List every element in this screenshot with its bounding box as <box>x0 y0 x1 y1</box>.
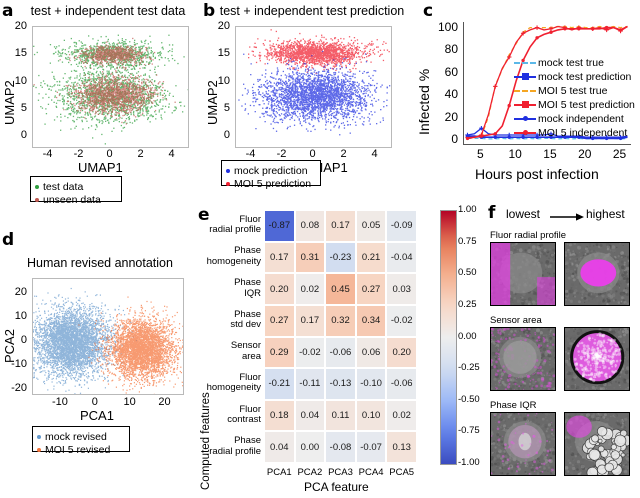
legend-item[interactable]: mock independent <box>514 112 635 126</box>
panel-d-legend: mock revisedMOI 5 revised <box>32 426 130 452</box>
heatmap-col-label: PCA2 <box>294 467 326 478</box>
tick-label: 4 <box>361 148 389 160</box>
heatmap-cell: 0.17 <box>264 242 295 274</box>
heatmap-cell: -0.04 <box>386 242 417 274</box>
panel-f-image-highest <box>564 412 630 476</box>
tick-label: 2 <box>127 148 155 160</box>
heatmap-cell: 0.11 <box>325 400 356 432</box>
legend-label: MOI 5 independent <box>538 127 627 139</box>
legend-item[interactable]: mock test prediction <box>514 70 635 84</box>
tick-label: 15 <box>203 47 233 59</box>
tick-label: 20 <box>424 110 458 124</box>
colorbar-tick-label: -1.00 <box>458 457 480 468</box>
tick-label: 0 <box>0 129 30 141</box>
panel-c-legend: mock test truemock test predictionMOI 5 … <box>514 56 635 140</box>
legend-item[interactable]: MOI 5 revised <box>37 443 124 456</box>
panel-f-image-lowest <box>490 242 556 306</box>
tick-label: 2 <box>330 148 358 160</box>
legend-label: MOI 5 test prediction <box>538 99 635 111</box>
heatmap-cell: 0.31 <box>295 242 326 274</box>
legend-label: unseen data <box>43 194 101 206</box>
panel-f-image-lowest <box>490 327 556 391</box>
tick-label: 15 <box>536 147 564 161</box>
legend-line-icon <box>514 72 536 82</box>
heatmap-cell: 0.27 <box>356 273 387 305</box>
tick-label: 80 <box>424 42 458 56</box>
legend-swatch-icon <box>226 182 230 186</box>
legend-item[interactable]: MOI 5 test prediction <box>514 98 635 112</box>
panel-f-label: f <box>488 203 495 223</box>
tick-label: -4 <box>237 148 265 160</box>
heatmap-cell: 0.27 <box>264 305 295 337</box>
legend-swatch-icon <box>226 169 230 173</box>
tick-label: 10 <box>203 75 233 87</box>
tick-label: 20 <box>0 286 30 298</box>
panel-d-xlabel: PCA1 <box>80 408 114 423</box>
tick-label: 20 <box>203 20 233 32</box>
legend-line-icon <box>514 100 536 110</box>
heatmap-cell: 0.04 <box>295 400 326 432</box>
tick-label: 0 <box>424 132 458 146</box>
tick-label: 0 <box>299 148 327 160</box>
heatmap-cell: -0.02 <box>386 305 417 337</box>
panel-c-ylabel: Infected % <box>416 69 432 135</box>
tick-label: 0 <box>96 148 124 160</box>
panel-f-row-label: Fluor radial profile <box>490 230 566 241</box>
panel-a-xlabel: UMAP1 <box>78 160 123 175</box>
panel-a-ylabel: UMAP2 <box>2 80 17 125</box>
panel-f: f lowest highest Fluor radial profileSen… <box>486 200 640 498</box>
tick-label: 60 <box>424 65 458 79</box>
heatmap-cell: -0.06 <box>325 337 356 369</box>
heatmap-cell: -0.06 <box>386 368 417 400</box>
heatmap-cell: -0.02 <box>295 337 326 369</box>
legend-label: test data <box>43 181 83 193</box>
heatmap-col-label: PCA3 <box>325 467 357 478</box>
panel-f-row-label: Sensor area <box>490 315 542 326</box>
heatmap-cell: 0.08 <box>295 210 326 242</box>
legend-label: MOI 5 revised <box>45 444 110 456</box>
legend-swatch-icon <box>37 435 41 439</box>
heatmap-row-label: Fluorcontrast <box>196 405 261 426</box>
heatmap-cell: 0.03 <box>386 273 417 305</box>
colorbar-tick-label: 0.50 <box>458 267 477 278</box>
tick-label: -20 <box>0 382 30 394</box>
panel-b-legend: mock predictionMOI 5 prediction <box>221 160 321 186</box>
panel-d-scatter <box>33 279 183 394</box>
tick-label: -10 <box>44 396 76 408</box>
heatmap-cell: 0.18 <box>264 400 295 432</box>
legend-item[interactable]: mock prediction <box>226 164 315 177</box>
panel-a-label: a <box>2 1 13 21</box>
heatmap-cell: 0.45 <box>325 273 356 305</box>
heatmap-cell: 0.32 <box>325 305 356 337</box>
legend-label: MOI 5 test true <box>538 85 607 97</box>
heatmap-row-label: PhaseIQR <box>196 278 261 299</box>
legend-line-icon <box>514 58 536 68</box>
legend-item[interactable]: MOI 5 prediction <box>226 177 315 190</box>
heatmap-cell: 0.34 <box>356 305 387 337</box>
heatmap-cell: 0.20 <box>386 337 417 369</box>
legend-item[interactable]: mock revised <box>37 430 124 443</box>
tick-label: 4 <box>158 148 186 160</box>
legend-swatch-icon <box>37 448 41 452</box>
heatmap-cell: 0.02 <box>386 400 417 432</box>
heatmap-row-label: Fluorhomogeneity <box>196 373 261 394</box>
panel-f-header-highest: highest <box>586 207 625 221</box>
legend-line-icon <box>514 114 536 124</box>
panel-f-image-highest <box>564 242 630 306</box>
heatmap-row-label: Fluorradial profile <box>196 215 261 236</box>
heatmap-cell: 0.13 <box>386 431 417 463</box>
panel-a-plot-area <box>32 26 189 148</box>
heatmap-cell: -0.09 <box>386 210 417 242</box>
heatmap-cell: -0.08 <box>325 431 356 463</box>
legend-label: mock test true <box>538 57 604 69</box>
panel-f-image-highest <box>564 327 630 391</box>
tick-label: 10 <box>501 147 529 161</box>
tick-label: 10 <box>114 396 146 408</box>
panel-d-plot-area <box>32 278 184 395</box>
legend-item[interactable]: MOI 5 test true <box>514 84 635 98</box>
legend-item[interactable]: unseen data <box>35 193 116 206</box>
tick-label: 5 <box>466 147 494 161</box>
panel-c-label: c <box>423 1 433 21</box>
heatmap-cell: -0.21 <box>264 368 295 400</box>
gradient-arrow-icon <box>550 211 584 223</box>
tick-label: -4 <box>34 148 62 160</box>
heatmap-cell: -0.13 <box>325 368 356 400</box>
colorbar-tick-label: -0.25 <box>458 362 480 373</box>
panel-d-title: Human revised annotation <box>10 256 190 270</box>
legend-label: mock revised <box>45 431 107 443</box>
legend-line-icon <box>514 128 536 138</box>
panel-c-xlabel: Hours post infection <box>475 166 599 182</box>
heatmap-cell: 0.17 <box>295 305 326 337</box>
legend-line-icon <box>514 86 536 96</box>
heatmap-cell: 0.17 <box>325 210 356 242</box>
tick-label: 10 <box>0 310 30 322</box>
panel-b: b test + independent test prediction UMA… <box>203 0 403 205</box>
legend-item[interactable]: test data <box>35 180 116 193</box>
panel-b-label: b <box>203 1 215 21</box>
legend-swatch-icon <box>35 198 39 202</box>
tick-label: 0 <box>203 129 233 141</box>
tick-label: 20 <box>149 396 181 408</box>
legend-label: mock prediction <box>234 165 308 177</box>
heatmap-row-label: Phasestd dev <box>196 310 261 331</box>
heatmap-cell: 0.21 <box>356 242 387 274</box>
tick-label: 15 <box>0 47 30 59</box>
panel-a-scatter <box>33 27 188 147</box>
panel-b-plot-area <box>235 26 392 148</box>
panel-b-scatter <box>236 27 391 147</box>
tick-label: -2 <box>268 148 296 160</box>
legend-label: MOI 5 prediction <box>234 178 311 190</box>
colorbar-tick-label: 0.00 <box>458 331 477 342</box>
heatmap-cell: -0.07 <box>356 431 387 463</box>
heatmap-cell: 0.02 <box>295 273 326 305</box>
heatmap-row-label: Phasehomogeneity <box>196 246 261 267</box>
heatmap-cell: 0.05 <box>356 210 387 242</box>
heatmap-grid: -0.870.080.170.05-0.090.170.31-0.230.21-… <box>264 210 417 463</box>
tick-label: 20 <box>0 20 30 32</box>
heatmap-cell: 0.04 <box>264 431 295 463</box>
tick-label: 100 <box>424 20 458 34</box>
panel-d-label: d <box>2 230 14 250</box>
legend-swatch-icon <box>35 185 39 189</box>
colorbar-tick-label: -0.50 <box>458 394 480 405</box>
legend-item[interactable]: MOI 5 independent <box>514 126 635 140</box>
tick-label: -10 <box>0 358 30 370</box>
legend-label: mock independent <box>538 113 624 125</box>
panel-a: a test + independent test data UMAP2 051… <box>0 0 200 205</box>
heatmap-cell: 0.00 <box>295 431 326 463</box>
colorbar-tick-label: -0.75 <box>458 425 480 436</box>
heatmap-cell: 0.10 <box>356 400 387 432</box>
tick-label: 20 <box>571 147 599 161</box>
heatmap-cell: -0.10 <box>356 368 387 400</box>
heatmap-cell: -0.23 <box>325 242 356 274</box>
heatmap-cell: -0.87 <box>264 210 295 242</box>
heatmap-col-label: PCA5 <box>386 467 418 478</box>
heatmap-col-label: PCA4 <box>355 467 387 478</box>
heatmap-row-label: Phaseradial profile <box>196 436 261 457</box>
tick-label: 0 <box>0 334 30 346</box>
panel-c: c Infected % 020406080100 510152025 Hour… <box>406 0 640 200</box>
panel-e: e Computed features Fluorradial profileP… <box>196 200 486 498</box>
heatmap-cell: 0.20 <box>264 273 295 305</box>
tick-label: 0 <box>79 396 111 408</box>
panel-d: d Human revised annotation PCA2 -20-1001… <box>0 228 200 498</box>
legend-item[interactable]: mock test true <box>514 56 635 70</box>
panel-a-legend: test dataunseen data <box>30 176 122 202</box>
panel-f-image-lowest <box>490 412 556 476</box>
heatmap-col-label: PCA1 <box>263 467 295 478</box>
heatmap-cell: -0.11 <box>295 368 326 400</box>
tick-label: 5 <box>203 102 233 114</box>
panel-e-xlabel: PCA feature <box>304 480 369 494</box>
panel-b-title: test + independent test prediction <box>217 4 407 18</box>
colorbar-tick-label: 1.00 <box>458 204 477 215</box>
colorbar-tick-label: 0.25 <box>458 299 477 310</box>
heatmap-row-label: Sensorarea <box>196 341 261 362</box>
figure-root: a test + independent test data UMAP2 051… <box>0 0 640 498</box>
panel-a-title: test + independent test data <box>18 4 198 18</box>
tick-label: -2 <box>65 148 93 160</box>
legend-label: mock test prediction <box>538 71 631 83</box>
panel-f-header-lowest: lowest <box>506 207 540 221</box>
heatmap-colorbar <box>440 210 457 465</box>
panel-f-row-label: Phase IQR <box>490 400 536 411</box>
tick-label: 40 <box>424 87 458 101</box>
colorbar-tick-label: 0.75 <box>458 236 477 247</box>
heatmap-cell: 0.29 <box>264 337 295 369</box>
heatmap-cell: 0.06 <box>356 337 387 369</box>
tick-label: 25 <box>606 147 634 161</box>
